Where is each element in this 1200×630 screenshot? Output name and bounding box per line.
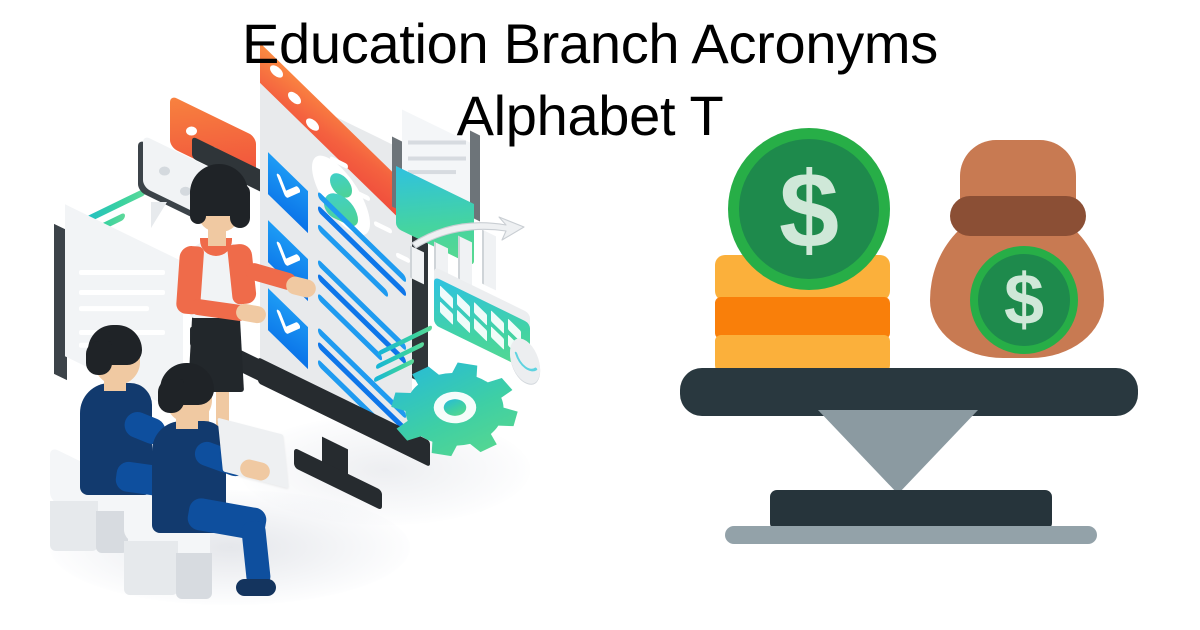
money-bag: $ [922,138,1112,383]
presenter-hair-side [230,184,250,228]
paper-line [408,170,456,174]
man-front-shoe [236,579,276,596]
presenter-hand-right [284,275,317,300]
window-dot-min [288,90,301,107]
money-bag-coin: $ [970,246,1078,354]
dollar-symbol: $ [739,136,879,282]
bubble-dot [186,127,197,136]
poster-canvas: Education Branch Acronyms Alphabet T [0,0,1200,630]
paper-line [408,141,466,145]
dollar-coin-large: $ [728,128,890,290]
chart-bar [482,230,496,291]
chart-bar [410,246,424,285]
training-illustration [40,95,560,595]
gear-settings-icon [390,345,520,470]
balance-beam [680,368,1138,416]
coin-layer-middle [715,297,890,339]
seated-man-front [136,363,296,613]
balance-base [770,490,1052,530]
gear-svg [390,345,520,470]
window-dot-close [270,63,283,80]
browser-tab-dash [374,220,392,234]
money-bag-tie [950,196,1086,236]
title-line-1: Education Branch Acronyms [0,8,1180,80]
man-front-shin [241,520,272,588]
balance-scale-illustration: $ $ [660,110,1180,580]
presenter-hair-side [190,186,206,224]
man-back-hair-back [86,341,112,375]
document-text-line [79,306,149,311]
dollar-symbol: $ [978,252,1070,348]
window-dot-max [306,116,319,133]
paper-line [408,157,466,161]
balance-ground-bar [725,526,1097,544]
man-front-hair-back [158,379,184,413]
balance-fulcrum [818,410,978,494]
